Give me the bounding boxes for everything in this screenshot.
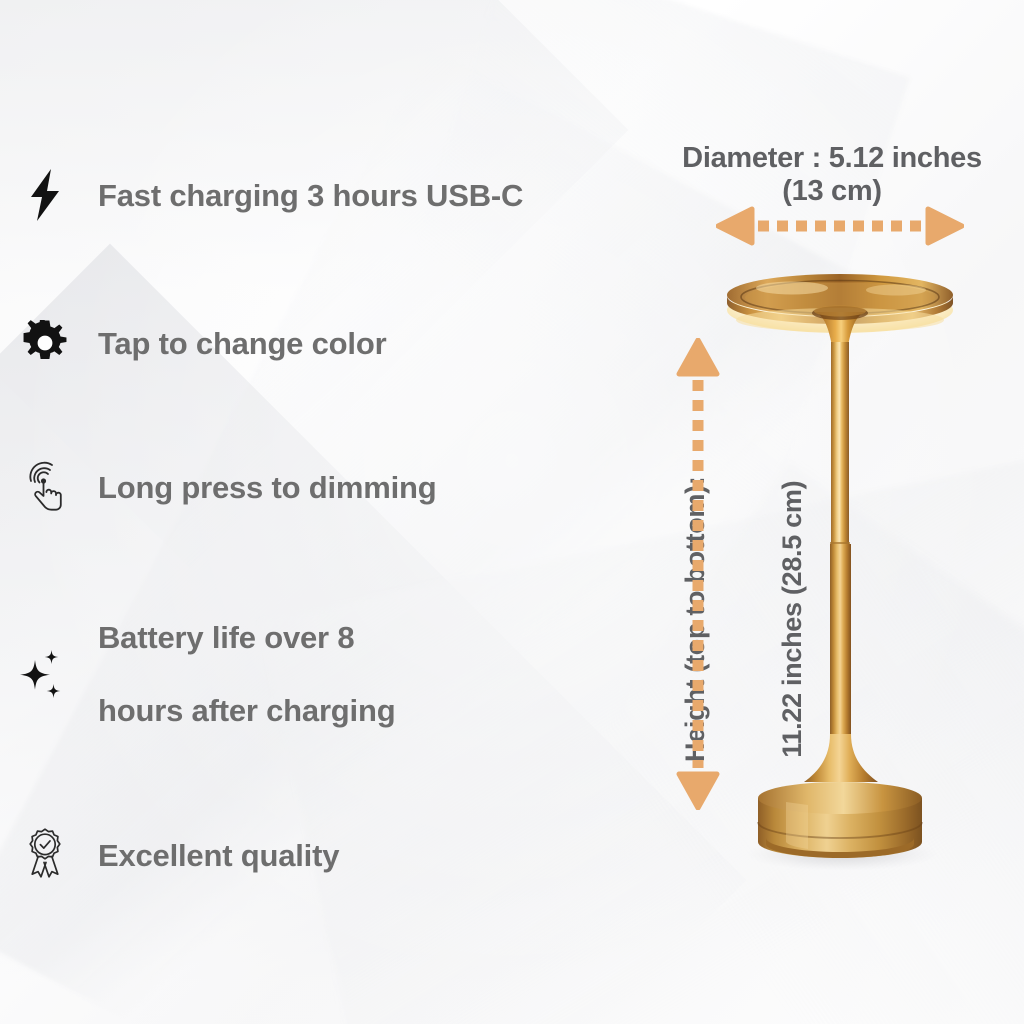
feature-item-dimming: Long press to dimming (18, 460, 437, 514)
feature-item-fast-charging: Fast charging 3 hours USB-C (18, 168, 523, 222)
diameter-arrow (716, 206, 964, 246)
feature-item-battery-life: Battery life over 8 hours after charging (18, 602, 395, 748)
gear-icon (18, 316, 72, 370)
diameter-label-line1: Diameter : 5.12 inches (636, 142, 1024, 175)
feature-label-dimming: Long press to dimming (98, 472, 437, 503)
height-label-line2: 11.22 inches (28.5 cm) (776, 477, 808, 763)
feature-label-quality: Excellent quality (98, 840, 339, 871)
sparkle-icon (18, 648, 72, 702)
feature-list: Fast charging 3 hours USB-C Tap to chang… (0, 0, 640, 1024)
award-ribbon-icon (18, 828, 72, 882)
feature-label-fast-charging: Fast charging 3 hours USB-C (98, 180, 523, 211)
height-label: Height (top to bottom): 11.22 inches (28… (614, 477, 873, 763)
product-infographic: Fast charging 3 hours USB-C Tap to chang… (0, 0, 1024, 1024)
height-arrow (676, 338, 720, 810)
feature-label-change-color: Tap to change color (98, 328, 386, 359)
feature-item-change-color: Tap to change color (18, 316, 386, 370)
feature-label-battery-life: Battery life over 8 hours after charging (98, 602, 395, 748)
touch-press-icon (18, 460, 72, 514)
diameter-label-line2: (13 cm) (636, 175, 1024, 208)
diameter-label: Diameter : 5.12 inches (13 cm) (636, 142, 1024, 208)
feature-item-quality: Excellent quality (18, 828, 339, 882)
lightning-bolt-icon (18, 168, 72, 222)
